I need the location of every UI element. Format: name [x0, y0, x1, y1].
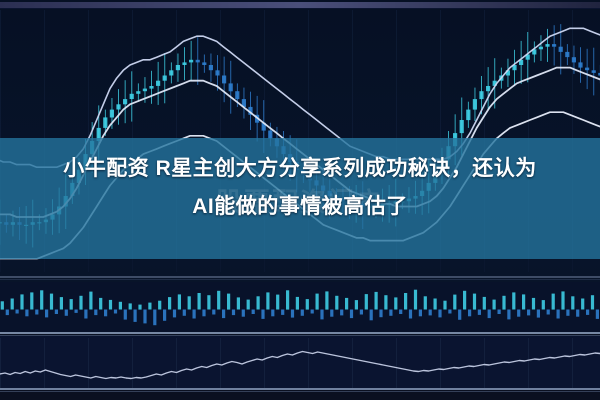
- headline-line-1: 小牛配资 R星主创大方分享系列成功秘诀，还认为: [0, 150, 600, 188]
- stock-chart-banner-image: 股票配资门户 小牛配资 R星主创大方分享系列成功秘诀，还认为 AI能做的事情被高…: [0, 0, 600, 400]
- top-divider-shadow: [0, 8, 600, 9]
- headline-line-2: AI能做的事情被高估了: [0, 188, 600, 226]
- title-overlay-footer-band: [0, 259, 600, 282]
- top-divider: [0, 2, 600, 8]
- headline-block: 小牛配资 R星主创大方分享系列成功秘诀，还认为 AI能做的事情被高估了: [0, 150, 600, 226]
- volume-panel: [0, 282, 600, 332]
- indicator-panel: [0, 336, 600, 390]
